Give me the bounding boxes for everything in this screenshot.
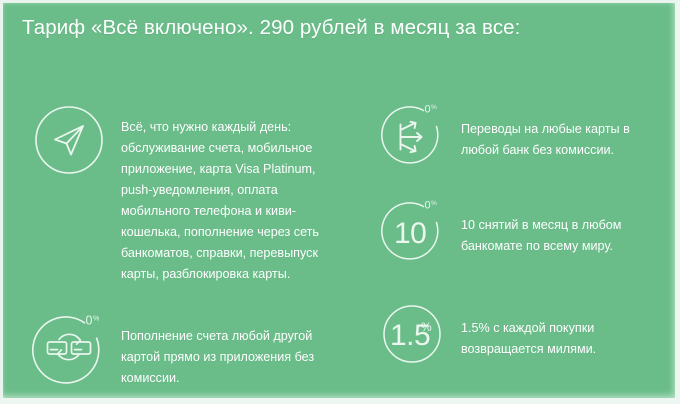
promo-poster: Тариф «Всё включено». 290 рублей в месяц… bbox=[0, 0, 680, 404]
feature-topup-badge-percent: % bbox=[93, 316, 99, 323]
feature-topup: 0 % Пополнение счета любой другой картой… bbox=[33, 311, 353, 389]
feature-withdrawals: 10 0 % 10 снятий в месяц в любом банкома… bbox=[381, 202, 671, 264]
feature-topup-text: Пополнение счета любой другой картой пря… bbox=[121, 326, 349, 389]
feature-withdrawals-badge-percent: % bbox=[431, 200, 437, 207]
page-title: Тариф «Всё включено». 290 рублей в месяц… bbox=[22, 16, 667, 40]
feature-transfers-badge: 0 bbox=[425, 104, 431, 116]
feature-miles-text: 1.5% с каждой покупки возвращается милям… bbox=[461, 318, 666, 360]
feature-everyday-text: Всё, что нужно каждый день: обслуживание… bbox=[121, 117, 349, 285]
number-badge-icon: 10 0 % bbox=[381, 202, 443, 264]
three-arrows-icon: 0 % bbox=[381, 106, 443, 168]
feature-transfers-badge-percent: % bbox=[431, 104, 437, 111]
send-arrow-icon bbox=[33, 104, 105, 176]
feature-miles: 1.5 % 1.5% с каждой покупки возвращается… bbox=[381, 303, 671, 365]
feature-topup-badge: 0 bbox=[86, 314, 93, 328]
feature-withdrawals-text: 10 снятий в месяц в любом банкомате по в… bbox=[461, 215, 666, 257]
card-exchange-icon: 0 % bbox=[33, 311, 105, 383]
feature-everyday: Всё, что нужно каждый день: обслуживание… bbox=[33, 104, 353, 285]
feature-miles-badge: % bbox=[421, 320, 432, 334]
feature-withdrawals-value: 10 bbox=[394, 217, 426, 250]
feature-transfers-text: Переводы на любые карты в любой банк без… bbox=[461, 119, 666, 161]
feature-transfers: 0 % Переводы на любые карты в любой банк… bbox=[381, 106, 671, 168]
percent-badge-icon: 1.5 % bbox=[381, 303, 443, 365]
feature-withdrawals-badge: 0 bbox=[425, 200, 431, 212]
